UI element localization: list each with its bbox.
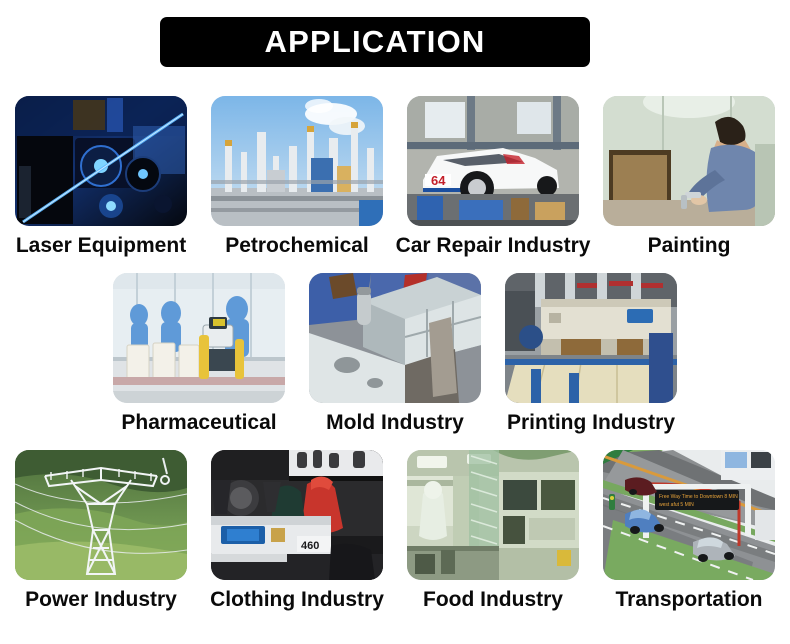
application-tile-printing-industry[interactable]: Printing Industry: [502, 273, 680, 436]
svg-text:460: 460: [301, 540, 319, 552]
tile-label: Laser Equipment: [16, 233, 186, 259]
page-title: APPLICATION: [264, 24, 485, 60]
application-tile-pharmaceutical[interactable]: Pharmaceutical: [110, 273, 288, 436]
transportation-highway-photo: Free Way Time to Downtown 8 MIN west afu…: [603, 450, 775, 580]
application-tile-food-industry[interactable]: Food Industry: [404, 450, 582, 613]
food-factory-photo: [407, 450, 579, 580]
tile-label: Clothing Industry: [210, 587, 384, 613]
application-row-2: Pharmaceutical: [0, 273, 790, 436]
application-tile-petrochemical[interactable]: Petrochemical: [208, 96, 386, 259]
svg-text:Free Way Time to Downtown 8 MI: Free Way Time to Downtown 8 MIN: [659, 494, 738, 500]
application-tile-power-industry[interactable]: Power Industry: [12, 450, 190, 613]
petrochemical-plant-photo: [211, 96, 383, 226]
application-tile-car-repair-industry[interactable]: 64 Car Repair Industry: [404, 96, 582, 259]
application-tile-clothing-industry[interactable]: 460 Clothing Industry: [208, 450, 386, 613]
tile-label: Painting: [648, 233, 731, 259]
application-row-1: Laser Equipment: [0, 96, 790, 259]
tile-label: Petrochemical: [225, 233, 369, 259]
laser-equipment-photo: [15, 96, 187, 226]
tile-label: Transportation: [615, 587, 762, 613]
tile-label: Pharmaceutical: [121, 410, 276, 436]
application-tile-laser-equipment[interactable]: Laser Equipment: [12, 96, 190, 259]
power-pylon-photo: [15, 450, 187, 580]
application-tile-painting[interactable]: Painting: [600, 96, 778, 259]
svg-text:64: 64: [431, 173, 446, 188]
application-tile-mold-industry[interactable]: Mold Industry: [306, 273, 484, 436]
tile-label: Food Industry: [423, 587, 563, 613]
tile-label: Car Repair Industry: [396, 233, 591, 259]
clothing-store-photo: 460: [211, 450, 383, 580]
application-grid: Laser Equipment: [0, 96, 790, 613]
application-tile-transportation[interactable]: Free Way Time to Downtown 8 MIN west afu…: [600, 450, 778, 613]
tile-label: Mold Industry: [326, 410, 464, 436]
application-title-banner: APPLICATION: [160, 17, 590, 67]
tile-label: Printing Industry: [507, 410, 675, 436]
application-row-3: Power Industry: [0, 450, 790, 613]
mold-industry-photo: [309, 273, 481, 403]
tile-label: Power Industry: [25, 587, 177, 613]
pharmaceutical-cleanroom-photo: [113, 273, 285, 403]
svg-text:west afut 5 MIN: west afut 5 MIN: [659, 502, 694, 508]
car-repair-photo: 64: [407, 96, 579, 226]
painting-worker-photo: [603, 96, 775, 226]
printing-machine-photo: [505, 273, 677, 403]
